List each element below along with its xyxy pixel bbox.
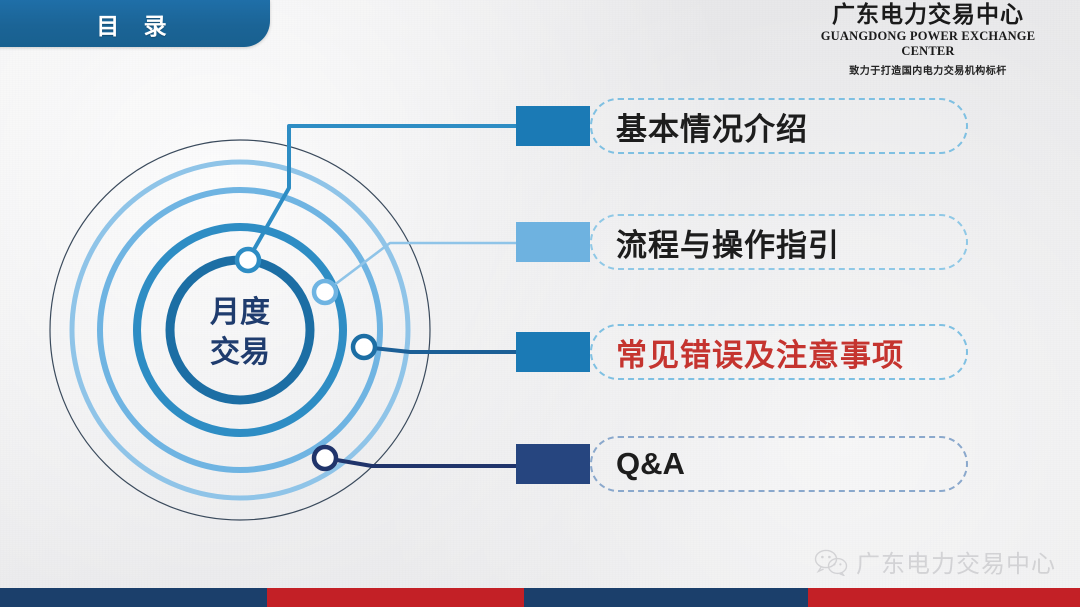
logo-slogan: 致力于打造国内电力交易机构标杆 — [794, 62, 1062, 77]
agenda-marker-1 — [516, 106, 590, 146]
logo-name-cn: 广东电力交易中心 — [794, 3, 1062, 28]
segment-red-1 — [267, 588, 524, 607]
agenda-item-4[interactable]: Q&A — [590, 436, 968, 492]
connector-lines — [248, 126, 516, 466]
bottom-color-bar — [0, 588, 1080, 607]
segment-red-2 — [808, 588, 1080, 607]
agenda-marker-3 — [516, 332, 590, 372]
node-common-errors[interactable] — [353, 336, 375, 358]
agenda-item-2[interactable]: 流程与操作指引 — [590, 214, 968, 270]
ring-3 — [100, 190, 380, 470]
agenda-marker-4 — [516, 444, 590, 484]
ring-4 — [72, 162, 408, 498]
agenda-item-box: Q&A — [590, 436, 968, 492]
logo-name-en: GUANGDONG POWER EXCHANGE CENTER — [794, 29, 1062, 60]
segment-navy-1 — [0, 588, 267, 607]
agenda-item-1[interactable]: 基本情况介绍 — [590, 98, 968, 154]
agenda-item-label: 基本情况介绍 — [616, 104, 808, 149]
org-logo: 广东电力交易中心 GUANGDONG POWER EXCHANGE CENTER… — [794, 3, 1062, 77]
concentric-rings — [50, 140, 430, 520]
agenda-item-label: 常见错误及注意事项 — [616, 330, 904, 375]
center-label-line1: 月度 — [210, 295, 270, 330]
ring-outer-hairline — [50, 140, 430, 520]
agenda-item-label: Q&A — [616, 446, 685, 482]
agenda-item-3[interactable]: 常见错误及注意事项 — [590, 324, 968, 380]
agenda-marker-2 — [516, 222, 590, 262]
node-qa[interactable] — [314, 447, 336, 469]
agenda-item-box: 基本情况介绍 — [590, 98, 968, 154]
agenda-item-box: 常见错误及注意事项 — [590, 324, 968, 380]
monthly-trading-diagram: 月度 交易 — [0, 0, 1080, 607]
agenda-item-box: 流程与操作指引 — [590, 214, 968, 270]
agenda-item-label: 流程与操作指引 — [616, 220, 840, 265]
connector-line-4 — [325, 458, 516, 466]
ring-1 — [170, 260, 310, 400]
header-banner: 目 录 — [0, 0, 270, 47]
wechat-icon — [814, 548, 848, 576]
wechat-label: 广东电力交易中心 — [856, 544, 1056, 579]
node-basic-info[interactable] — [237, 249, 259, 271]
center-label-line2: 交易 — [210, 335, 270, 370]
slide-root: 月度 交易 目 录 广东电力交易中心 GUANGDONG POWER EXCHA… — [0, 0, 1080, 607]
connector-line-3 — [364, 347, 516, 352]
node-process-guide[interactable] — [314, 281, 336, 303]
page-title: 目 录 — [74, 7, 175, 41]
wechat-watermark: 广东电力交易中心 — [814, 544, 1056, 579]
segment-navy-2 — [524, 588, 808, 607]
agenda-markers — [516, 106, 590, 484]
